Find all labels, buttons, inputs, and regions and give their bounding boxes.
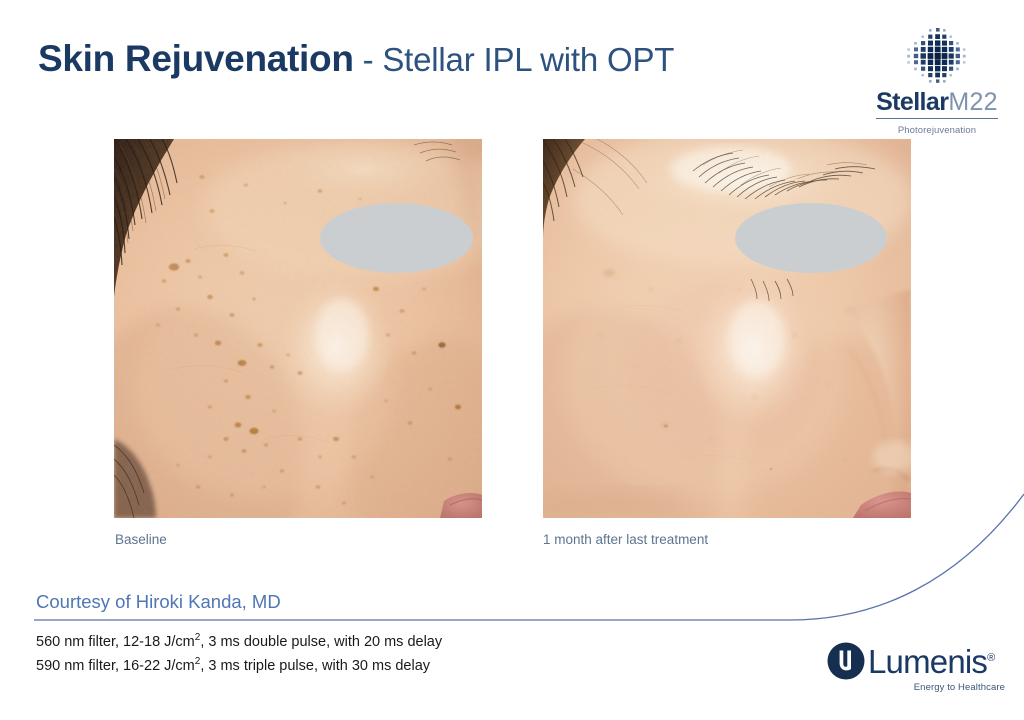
lumenis-name-text: Lumenis	[868, 643, 987, 680]
parameter-1-suffix: , 3 ms double pulse, with 20 ms delay	[200, 634, 442, 650]
treatment-parameters: 560 nm filter, 12-18 J/cm2, 3 ms double …	[36, 628, 442, 676]
stellar-m22-logo: StellarM22 Photorejuvenation	[872, 28, 1002, 136]
courtesy-credit: Courtesy of Hiroki Kanda, MD	[36, 591, 281, 613]
after-photo-caption: 1 month after last treatment	[543, 532, 708, 547]
before-photo-caption: Baseline	[115, 532, 167, 547]
lumenis-logo-row: Lumenis®	[827, 641, 1007, 681]
before-photo-image	[114, 139, 482, 518]
dot-matrix-circle-icon	[900, 28, 974, 86]
stellar-wordmark: StellarM22	[876, 90, 998, 119]
lumenis-circle-u-icon	[827, 642, 865, 680]
parameter-line-2: 590 nm filter, 16-22 J/cm2, 3 ms triple …	[36, 652, 442, 676]
slide-canvas: Skin Rejuvenation - Stellar IPL with OPT	[0, 0, 1024, 720]
after-photo	[543, 139, 911, 518]
lumenis-tagline: Energy to Healthcare	[827, 682, 1007, 693]
stellar-tagline: Photorejuvenation	[872, 125, 1002, 136]
registered-trademark-icon: ®	[987, 652, 994, 664]
before-photo	[114, 139, 482, 518]
lumenis-logo: Lumenis® Energy to Healthcare	[827, 641, 1007, 701]
page-title: Skin Rejuvenation - Stellar IPL with OPT	[38, 38, 674, 80]
lumenis-wordmark: Lumenis®	[868, 645, 994, 678]
parameter-2-prefix: 590 nm filter, 16-22 J/cm	[36, 658, 195, 674]
title-main-text: Skin Rejuvenation	[38, 38, 354, 79]
parameter-1-prefix: 560 nm filter, 12-18 J/cm	[36, 634, 195, 650]
after-photo-image	[543, 139, 911, 518]
title-subtitle-text: - Stellar IPL with OPT	[354, 41, 675, 78]
parameter-2-suffix: , 3 ms triple pulse, with 30 ms delay	[200, 658, 430, 674]
stellar-model-text: M22	[948, 88, 998, 116]
parameter-line-1: 560 nm filter, 12-18 J/cm2, 3 ms double …	[36, 628, 442, 652]
stellar-name-text: Stellar	[876, 88, 948, 116]
